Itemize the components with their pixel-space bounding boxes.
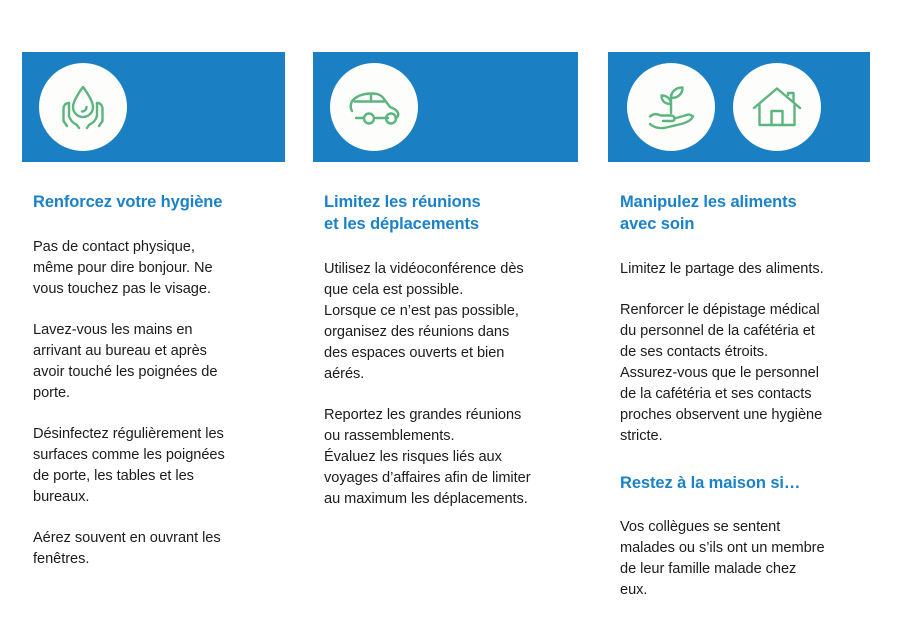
house-icon	[746, 76, 808, 138]
column-hygiene: Renforcez votre hygiène Pas de contact p…	[22, 52, 285, 570]
paragraph-meetings-1: Utilisez la vidéoconférence dès que cela…	[324, 236, 576, 385]
column-body-hygiene: Renforcez votre hygiène Pas de contact p…	[22, 162, 285, 570]
banner-meetings-travel	[313, 52, 578, 162]
icon-circle-meetings-travel	[330, 63, 418, 151]
paragraph-stay-home-1: Vos collègues se sentent malades ou s’il…	[620, 494, 868, 601]
infographic-board: Renforcez votre hygiène Pas de contact p…	[0, 0, 900, 630]
column-body-meetings-travel: Limitez les réunions et les déplacements…	[313, 162, 578, 510]
banner-hygiene	[22, 52, 285, 162]
paragraph-hygiene-1: Pas de contact physique, même pour dire …	[33, 214, 283, 300]
column-food-home: Manipulez les aliments avec soin Limitez…	[608, 52, 870, 601]
water-drop-in-hands-icon	[52, 76, 114, 138]
column-meetings-travel: Limitez les réunions et les déplacements…	[313, 52, 578, 510]
paragraph-meetings-2: Reportez les grandes réunions ou rassemb…	[324, 385, 576, 510]
sprout-in-hand-icon	[640, 76, 702, 138]
paragraph-food-1: Limitez le partage des aliments.	[620, 236, 868, 280]
heading-meetings-travel: Limitez les réunions et les déplacements	[324, 162, 576, 236]
icon-circle-food	[627, 63, 715, 151]
car-icon	[342, 75, 406, 139]
heading-hygiene: Renforcez votre hygiène	[33, 162, 283, 214]
heading-stay-home: Restez à la maison si…	[620, 447, 868, 495]
icon-circle-hygiene	[39, 63, 127, 151]
icon-circle-home	[733, 63, 821, 151]
paragraph-hygiene-4: Aérez souvent en ouvrant les fenêtres.	[33, 508, 283, 570]
paragraph-food-2: Renforcer le dépistage médical du person…	[620, 280, 868, 447]
column-body-food-home: Manipulez les aliments avec soin Limitez…	[608, 162, 870, 601]
paragraph-hygiene-2: Lavez-vous les mains en arrivant au bure…	[33, 300, 283, 404]
heading-food: Manipulez les aliments avec soin	[620, 162, 868, 236]
banner-food-home	[608, 52, 870, 162]
paragraph-hygiene-3: Désinfectez régulièrement les surfaces c…	[33, 404, 283, 508]
